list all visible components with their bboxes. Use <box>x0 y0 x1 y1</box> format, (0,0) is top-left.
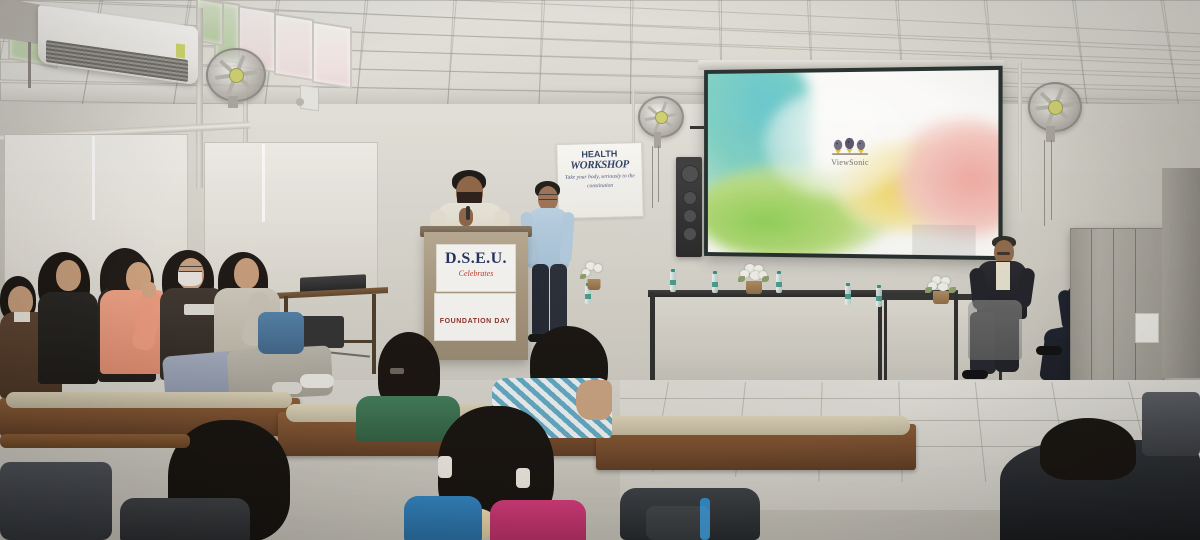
viewsonic-logo: ViewSonic <box>829 137 871 167</box>
flower-vase <box>737 264 771 294</box>
fan-pull-cord <box>1051 140 1052 220</box>
dress-shirt <box>996 262 1010 290</box>
wall-fan-center-icon <box>638 96 684 138</box>
flower-vase <box>925 276 957 304</box>
wall-fan-left-icon <box>206 48 266 102</box>
water-bottle <box>845 286 851 305</box>
fan-pull-cord <box>652 146 653 208</box>
blind-pull-cord <box>92 136 95 220</box>
cabinet-notice <box>1135 313 1159 343</box>
hand <box>142 282 156 298</box>
dark-bag <box>0 462 112 540</box>
water-bottle <box>712 274 718 293</box>
office-chair <box>968 300 1022 360</box>
wall-switchbox <box>296 98 304 106</box>
health-workshop-poster: HEALTH WORKSHOP Take your body, seriousl… <box>556 142 644 219</box>
glasses-icon <box>539 194 557 200</box>
sweatshirt-print <box>184 304 218 315</box>
moustache <box>997 252 1010 255</box>
water-bottle <box>776 274 782 293</box>
podium-sign-lower: FOUNDATION DAY <box>434 293 516 341</box>
collar <box>14 312 30 322</box>
flower-vase <box>580 262 608 290</box>
foundation-day-banner: FOUNDATION DAY <box>435 318 515 325</box>
dseu-subtitle: Celebrates <box>437 269 515 278</box>
wall-fan-right-icon <box>1028 82 1082 132</box>
fan-pull-cord <box>658 146 659 202</box>
wall-switchbox <box>300 85 319 112</box>
ac-energy-label <box>176 43 185 58</box>
water-bottle <box>670 272 676 292</box>
mic <box>466 206 470 220</box>
foreground-audience-member <box>1040 418 1136 480</box>
face-mask <box>178 272 202 286</box>
projector-screen: ViewSonic <box>704 66 1003 260</box>
hair-clip <box>390 368 404 374</box>
screen-cable <box>690 126 704 129</box>
blind-pull-cord <box>262 144 265 222</box>
wall-conduit <box>1018 62 1022 212</box>
plastic-chair <box>1142 392 1200 456</box>
dseu-title: D.S.E.U. <box>437 250 515 268</box>
window-pane <box>274 13 314 81</box>
wall-partition <box>1162 168 1200 378</box>
shoulder-skin <box>576 380 612 420</box>
glasses-icon <box>179 266 202 272</box>
podium-sign-upper: D.S.E.U. Celebrates <box>436 244 516 292</box>
table-leg <box>372 294 376 374</box>
poster-line-3: Take your body, seriously to the constit… <box>558 170 642 193</box>
metal-cabinet <box>1070 228 1164 390</box>
fan-bracket <box>228 96 238 108</box>
bench-cushion <box>6 392 292 408</box>
shoe <box>962 370 988 379</box>
osd-box <box>912 225 975 256</box>
water-bottle <box>876 288 882 307</box>
ac-drain-pipe <box>28 42 31 88</box>
plastic-chair <box>300 316 344 348</box>
viewsonic-wordmark: ViewSonic <box>829 158 871 167</box>
fan-pull-cord <box>1044 140 1045 226</box>
backpack-pocket <box>646 506 710 540</box>
bench-rail <box>0 434 190 448</box>
window-pane <box>312 21 352 89</box>
projected-image: ViewSonic <box>708 70 999 256</box>
hair-accessory <box>516 468 530 488</box>
auditorium-photo: ViewSonic HEALTH WORKSHOP Take your body… <box>0 0 1200 540</box>
blue-backpack <box>258 312 304 354</box>
shoe <box>1036 346 1062 355</box>
three-birds-icon <box>829 137 871 157</box>
hair-accessory <box>438 456 452 478</box>
bench-cushion <box>604 416 910 435</box>
shoe <box>300 374 334 388</box>
pa-speaker-tower <box>676 157 702 257</box>
